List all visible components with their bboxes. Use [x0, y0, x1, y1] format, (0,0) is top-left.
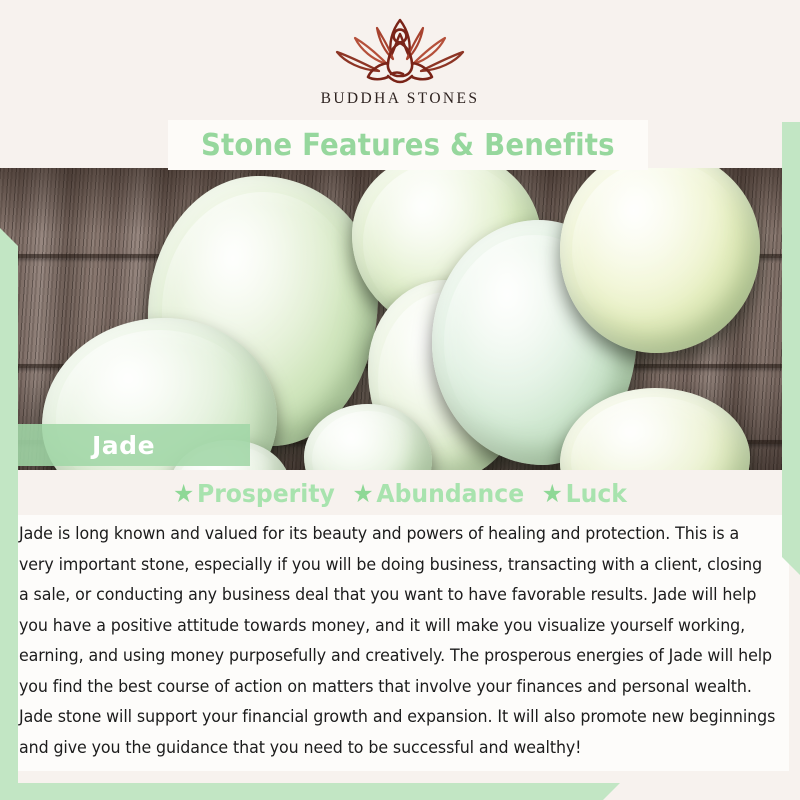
stone-name-banner: Jade [14, 424, 250, 466]
description-text: Jade is long known and valued for its be… [19, 519, 776, 763]
page-title: Stone Features & Benefits [201, 128, 615, 163]
star-icon: ★ [542, 479, 563, 508]
benefit-item: ★Abundance [352, 479, 524, 508]
stone-name: Jade [14, 431, 155, 460]
benefit-item: ★Luck [542, 479, 627, 508]
content-section: ★Prosperity ★Abundance ★Luck Jade is lon… [0, 470, 800, 800]
benefit-label: Luck [566, 479, 627, 508]
infographic-poster: BUDDHA STONES Stone Features & Benefits … [0, 0, 800, 800]
benefit-item: ★Prosperity [173, 479, 335, 508]
benefits-list: ★Prosperity ★Abundance ★Luck [24, 479, 776, 508]
benefit-label: Abundance [376, 479, 524, 508]
star-icon: ★ [352, 479, 373, 508]
lotus-meditation-icon [325, 14, 475, 88]
title-banner: Stone Features & Benefits [168, 120, 648, 170]
accent-bar-left [0, 228, 18, 800]
star-icon: ★ [173, 479, 194, 508]
stone-photo: Jade [0, 168, 800, 470]
header: BUDDHA STONES [0, 0, 800, 122]
accent-bar-bottom-left [0, 783, 620, 800]
brand-name: BUDDHA STONES [0, 90, 800, 108]
benefit-label: Prosperity [197, 479, 335, 508]
description-card: Jade is long known and valued for its be… [11, 515, 789, 771]
brand-logo: BUDDHA STONES [0, 14, 800, 108]
